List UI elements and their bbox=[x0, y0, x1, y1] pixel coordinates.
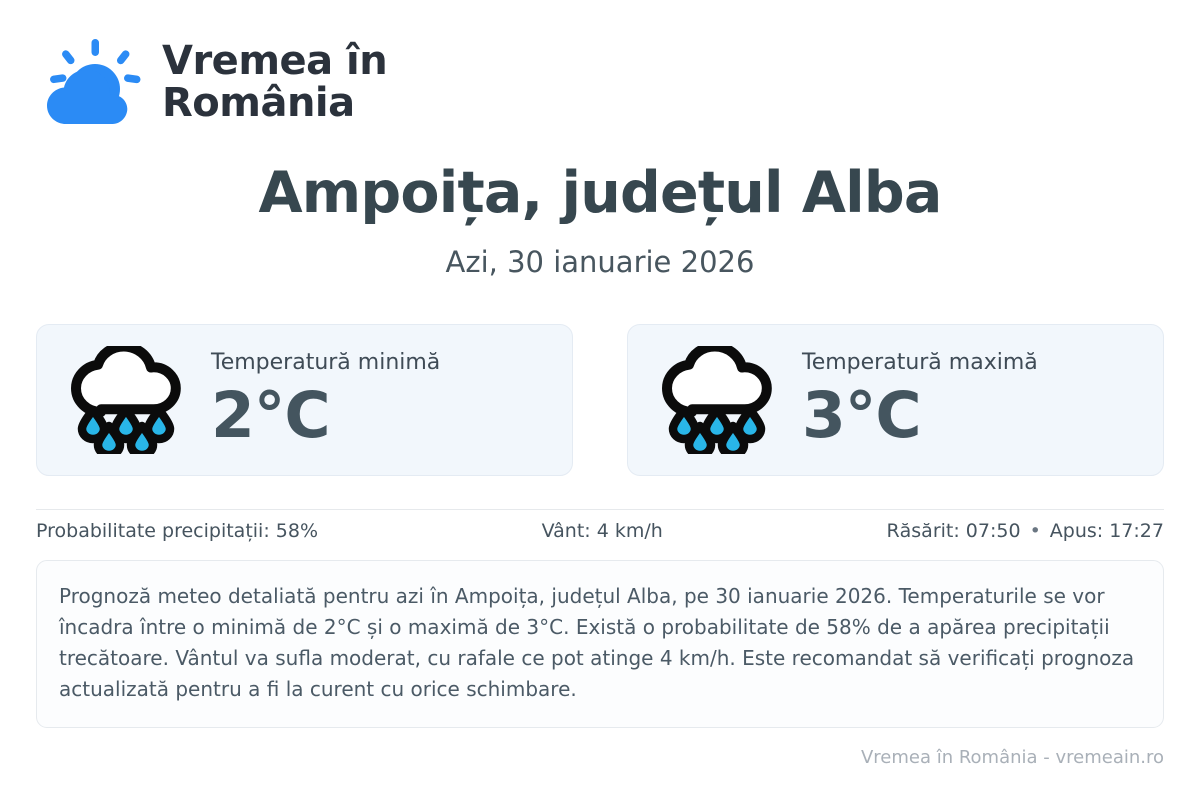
stats-row: Probabilitate precipitații: 58% Vânt: 4 … bbox=[36, 510, 1164, 552]
page-title: Ampoița, județul Alba bbox=[36, 162, 1164, 225]
sunrise-value: Răsărit: 07:50 bbox=[886, 520, 1020, 542]
weather-page: Vremea în România Ampoița, județul Alba … bbox=[0, 0, 1200, 800]
cloud-rain-icon bbox=[67, 346, 185, 454]
precipitation-stat: Probabilitate precipitații: 58% bbox=[36, 520, 318, 542]
brand-header: Vremea în România bbox=[36, 0, 1164, 118]
page-subtitle: Azi, 30 ianuarie 2026 bbox=[36, 245, 1164, 280]
forecast-description: Prognoză meteo detaliată pentru azi în A… bbox=[36, 560, 1164, 728]
bullet-separator-icon: • bbox=[1030, 520, 1041, 542]
sunset-value: Apus: 17:27 bbox=[1050, 520, 1164, 542]
temperature-max-card: Temperatură maximă 3°C bbox=[627, 324, 1164, 476]
cloud-rain-icon bbox=[658, 346, 776, 454]
sun-times-stat: Răsărit: 07:50•Apus: 17:27 bbox=[886, 520, 1164, 542]
title-block: Ampoița, județul Alba Azi, 30 ianuarie 2… bbox=[36, 162, 1164, 279]
footer-credit: Vremea în România - vremeain.ro bbox=[861, 747, 1164, 768]
temperature-min-text: Temperatură minimă 2°C bbox=[211, 349, 440, 452]
temperature-min-value: 2°C bbox=[211, 379, 440, 452]
brand-name: Vremea în România bbox=[162, 40, 387, 125]
wind-stat: Vânt: 4 km/h bbox=[542, 520, 663, 542]
temperature-min-label: Temperatură minimă bbox=[211, 351, 440, 375]
temperature-max-label: Temperatură maximă bbox=[802, 351, 1038, 375]
temperature-cards: Temperatură minimă 2°C Temper bbox=[36, 324, 1164, 476]
sun-behind-cloud-icon bbox=[36, 34, 144, 130]
temperature-max-value: 3°C bbox=[802, 379, 1038, 452]
temperature-min-card: Temperatură minimă 2°C bbox=[36, 324, 573, 476]
temperature-max-text: Temperatură maximă 3°C bbox=[802, 349, 1038, 452]
